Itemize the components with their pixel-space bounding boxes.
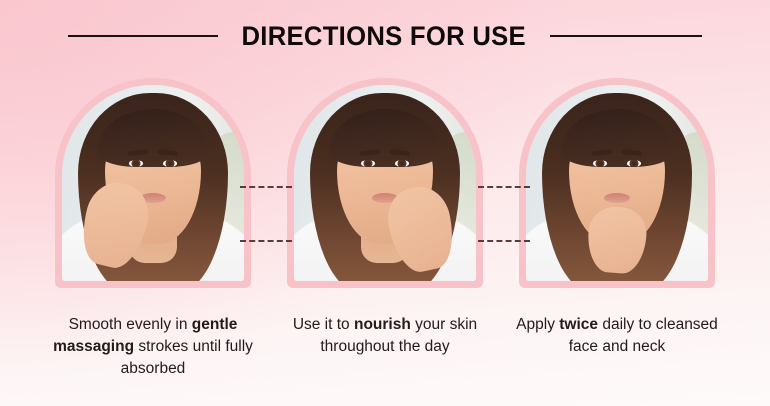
- step-1-photo-scene: [62, 85, 244, 281]
- directions-for-use-banner: DIRECTIONS FOR USE: [0, 0, 770, 406]
- connector-2-top-icon: [478, 186, 530, 188]
- page-title: DIRECTIONS FOR USE: [242, 23, 526, 50]
- header: DIRECTIONS FOR USE: [0, 18, 770, 54]
- step-1-caption: Smooth evenly in gentle massaging stroke…: [41, 314, 266, 380]
- connector-1-bottom-icon: [240, 240, 292, 242]
- step-2-photo: [294, 85, 476, 281]
- step-1-photo-frame: [55, 78, 251, 288]
- step-3-caption: Apply twice daily to cleansed face and n…: [505, 314, 730, 358]
- step-2-photo-frame: [287, 78, 483, 288]
- step-2-photo-scene: [294, 85, 476, 281]
- caption-text: strokes until fully absorbed: [121, 338, 253, 377]
- caption-text: Smooth evenly in: [69, 316, 192, 333]
- connector-1-top-icon: [240, 186, 292, 188]
- step-3-photo: [526, 85, 708, 281]
- step-3-photo-frame: [519, 78, 715, 288]
- title-rule-right-icon: [550, 35, 702, 37]
- step-1-photo: [62, 85, 244, 281]
- step-1: Smooth evenly in gentle massaging stroke…: [37, 78, 269, 380]
- lips-shape: [604, 193, 630, 203]
- caption-text: Use it to: [293, 316, 354, 333]
- step-2: Use it to nourish your skin throughout t…: [269, 78, 501, 358]
- caption-text: Apply: [516, 316, 559, 333]
- title-rule-left-icon: [68, 35, 218, 37]
- caption-emphasis: twice: [559, 316, 598, 333]
- caption-emphasis: nourish: [354, 316, 411, 333]
- connector-2-bottom-icon: [478, 240, 530, 242]
- step-3-photo-scene: [526, 85, 708, 281]
- step-2-caption: Use it to nourish your skin throughout t…: [273, 314, 498, 358]
- steps-row: Smooth evenly in gentle massaging stroke…: [0, 78, 770, 378]
- step-3: Apply twice daily to cleansed face and n…: [501, 78, 733, 358]
